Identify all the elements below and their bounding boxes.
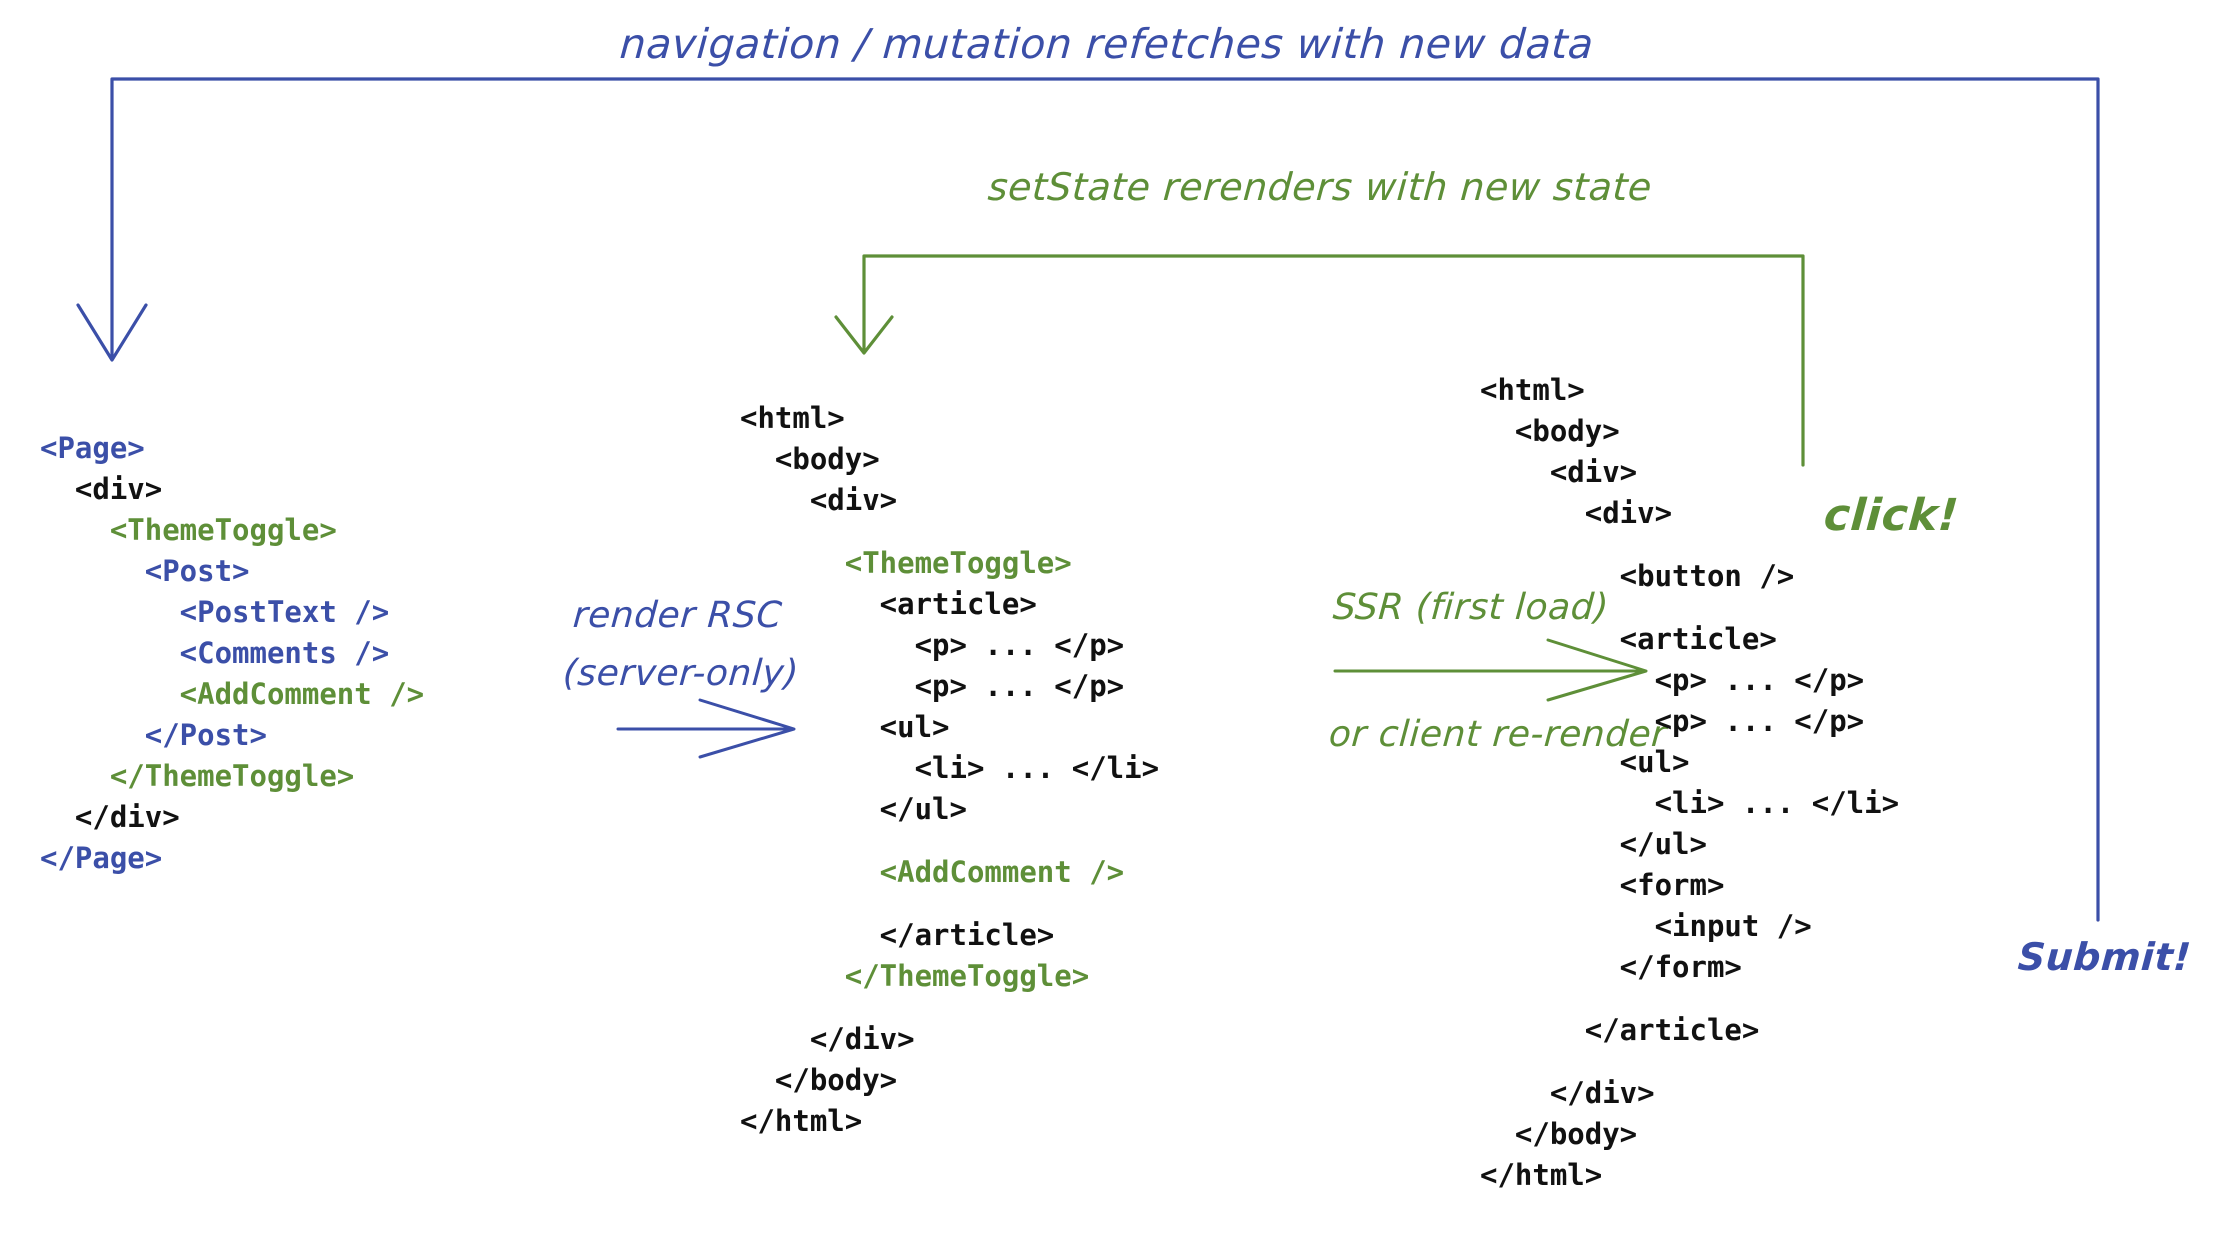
code-line: <AddComment /> xyxy=(740,852,1159,893)
code-line: <p> ... </p> xyxy=(740,666,1159,707)
code-line: </body> xyxy=(1480,1114,1899,1155)
code-line: </form> xyxy=(1480,947,1899,988)
code-line: </html> xyxy=(1480,1155,1899,1196)
code-line: <div> xyxy=(1480,493,1899,534)
code-line: <div> xyxy=(40,469,424,510)
code-block-rsc-output-html: <html> <body> <div> <ThemeToggle> <artic… xyxy=(740,398,1159,1142)
code-line: <div> xyxy=(1480,452,1899,493)
code-line: </div> xyxy=(40,797,424,838)
code-line: <input /> xyxy=(1480,906,1899,947)
code-line: <Page> xyxy=(40,428,424,469)
code-line: </ThemeToggle> xyxy=(40,756,424,797)
code-line: <p> ... </p> xyxy=(1480,660,1899,701)
code-line: </div> xyxy=(1480,1073,1899,1114)
code-line: <ul> xyxy=(1480,742,1899,783)
code-line: <button /> xyxy=(1480,556,1899,597)
code-line: <AddComment /> xyxy=(40,674,424,715)
code-line: </html> xyxy=(740,1101,1159,1142)
label-setstate-rerender: setState rerenders with new state xyxy=(986,165,1653,209)
code-line: <html> xyxy=(740,398,1159,439)
code-block-react-component-tree: <Page> <div> <ThemeToggle> <Post> <PostT… xyxy=(40,428,424,879)
code-line: </article> xyxy=(740,915,1159,956)
code-line: <li> ... </li> xyxy=(1480,783,1899,824)
code-block-ssr-rendered-dom: <html> <body> <div> <div> <button /> <ar… xyxy=(1480,370,1899,1196)
code-line: </Post> xyxy=(40,715,424,756)
code-line: </article> xyxy=(1480,1010,1899,1051)
diagram-canvas: navigation / mutation refetches with new… xyxy=(0,0,2214,1238)
label-navigation-refetch: navigation / mutation refetches with new… xyxy=(618,20,1595,68)
code-line: </ul> xyxy=(1480,824,1899,865)
code-line: <div> xyxy=(740,480,1159,521)
code-line: <Comments /> xyxy=(40,633,424,674)
code-line: </body> xyxy=(740,1060,1159,1101)
code-line: </ThemeToggle> xyxy=(740,956,1159,997)
code-line: <body> xyxy=(1480,411,1899,452)
code-line: <p> ... </p> xyxy=(740,625,1159,666)
code-line: <article> xyxy=(740,584,1159,625)
code-line: <ThemeToggle> xyxy=(740,543,1159,584)
code-line: <li> ... </li> xyxy=(740,748,1159,789)
code-line: <ul> xyxy=(740,707,1159,748)
code-line: <ThemeToggle> xyxy=(40,510,424,551)
code-line: <PostText /> xyxy=(40,592,424,633)
code-line: <Post> xyxy=(40,551,424,592)
code-line: <form> xyxy=(1480,865,1899,906)
code-line: <p> ... </p> xyxy=(1480,701,1899,742)
label-submit: Submit! xyxy=(2016,935,2192,979)
code-line: </ul> xyxy=(740,789,1159,830)
code-line: <article> xyxy=(1480,619,1899,660)
code-line: </div> xyxy=(740,1019,1159,1060)
code-line: </Page> xyxy=(40,838,424,879)
code-line: <body> xyxy=(740,439,1159,480)
code-line: <html> xyxy=(1480,370,1899,411)
